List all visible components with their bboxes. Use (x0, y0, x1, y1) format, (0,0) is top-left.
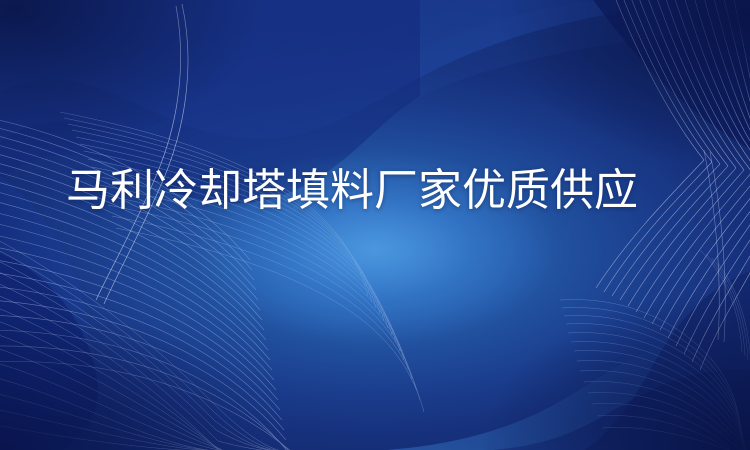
page-title: 马利冷却塔填料厂家优质供应 (66, 158, 716, 224)
title-block: 马利冷却塔填料厂家优质供应 (66, 158, 716, 224)
corner-vignette (0, 0, 750, 450)
banner-canvas: 马利冷却塔填料厂家优质供应 (0, 0, 750, 450)
